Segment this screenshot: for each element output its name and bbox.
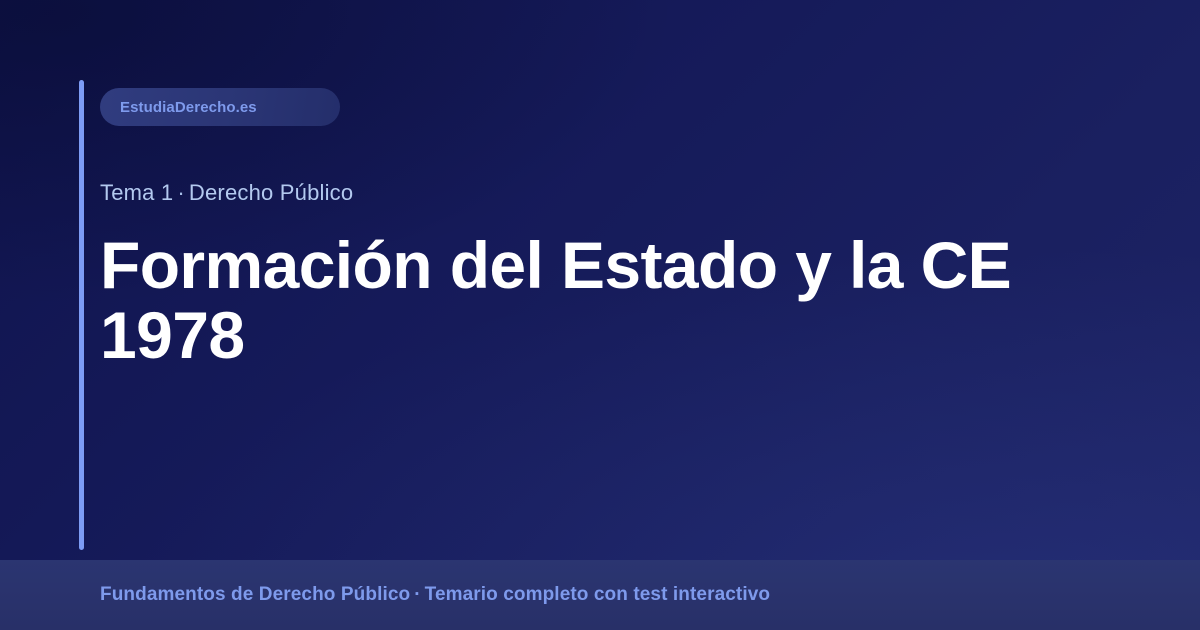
og-share-card: EstudiaDerecho.es Tema 1·Derecho Público… (0, 0, 1200, 630)
eyebrow-topic-number: Tema 1 (100, 180, 173, 205)
left-accent-bar (79, 80, 84, 550)
eyebrow: Tema 1·Derecho Público (100, 180, 1110, 206)
footer-tagline: Temario completo con test interactivo (425, 584, 770, 605)
card-content: EstudiaDerecho.es Tema 1·Derecho Público… (100, 88, 1110, 371)
brand-badge-label: EstudiaDerecho.es (120, 99, 257, 116)
footer-course: Fundamentos de Derecho Público (100, 584, 410, 605)
eyebrow-separator: · (173, 180, 189, 205)
page-title: Formación del Estado y la CE 1978 (100, 231, 1110, 371)
footer-separator: · (410, 584, 424, 605)
eyebrow-subject: Derecho Público (189, 180, 353, 205)
footer-text: Fundamentos de Derecho Público·Temario c… (100, 584, 770, 606)
brand-badge[interactable]: EstudiaDerecho.es (100, 88, 340, 126)
footer-bar: Fundamentos de Derecho Público·Temario c… (0, 560, 1200, 630)
